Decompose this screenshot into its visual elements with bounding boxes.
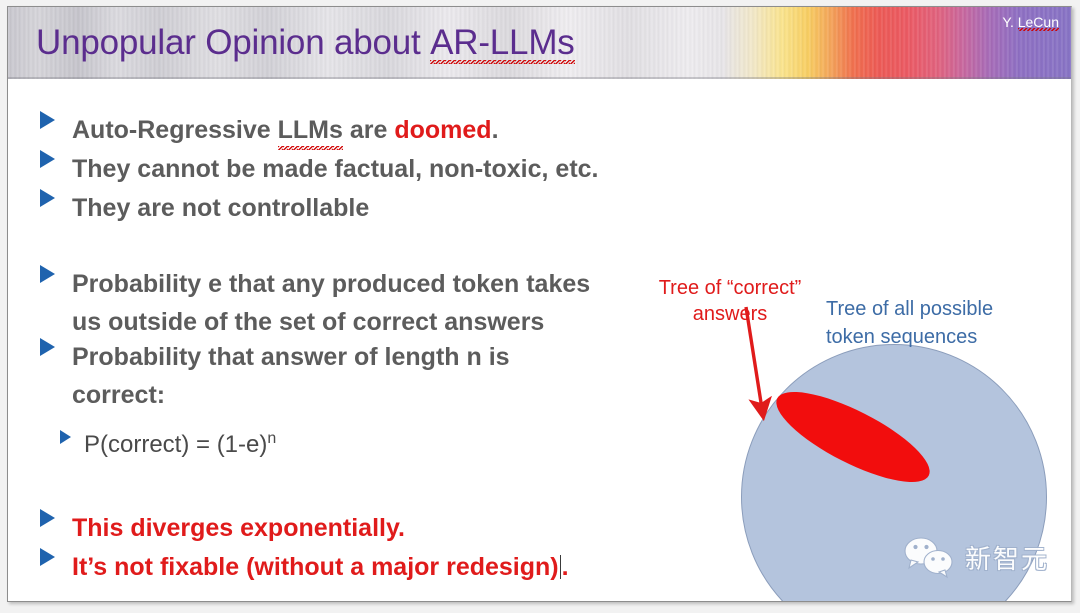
triangle-bullet-icon — [40, 548, 55, 566]
bullet-text: Probability that answer of length n is c… — [72, 338, 510, 414]
bullet-item: It’s not fixable (without a major redesi… — [40, 548, 569, 586]
formula-base: P(correct) = (1-e) — [84, 431, 267, 458]
bullet-text: This diverges exponentially. — [72, 509, 405, 547]
bullet-text: They are not controllable — [72, 189, 369, 227]
bullet-text-emphasis: doomed — [394, 116, 491, 144]
label-correct-answers: Tree of “correct” answers — [630, 275, 830, 327]
formula-exponent: n — [267, 430, 276, 447]
bullet-text: It’s not fixable (without a major redesi… — [72, 548, 569, 586]
bullet-item: They are not controllable — [40, 189, 369, 227]
bullet-text-after: . — [492, 116, 499, 144]
triangle-bullet-icon — [40, 111, 55, 129]
label-all-sequences: Tree of all possible token sequences — [826, 295, 1066, 351]
bullet-item: Probability e that any produced token ta… — [40, 265, 590, 341]
slide-header-band: Unpopular Opinion about AR-LLMs Y. LeCun — [8, 7, 1071, 79]
triangle-bullet-icon — [40, 150, 55, 168]
watermark-text: 新智元 — [965, 539, 1049, 576]
page-title: Unpopular Opinion about AR-LLMs — [36, 23, 575, 63]
slide-body: Auto-Regressive LLMs are doomed. They ca… — [8, 79, 1071, 601]
bullet-text-main: It’s not fixable (without a major redesi… — [72, 553, 559, 581]
author-prefix: Y. — [1002, 14, 1017, 30]
watermark: 新智元 — [900, 535, 1049, 579]
page-title-flagged-term: AR-LLMs — [430, 23, 574, 63]
bullet-text: Auto-Regressive LLMs are doomed. — [72, 111, 499, 149]
bullet-text-tail: . — [562, 553, 569, 581]
bullet-flagged-term: LLMs — [278, 111, 343, 149]
triangle-bullet-icon — [60, 430, 71, 444]
wechat-icon — [900, 535, 962, 579]
triangle-bullet-icon — [40, 189, 55, 207]
triangle-bullet-icon — [40, 265, 55, 283]
bullet-item: Auto-Regressive LLMs are doomed. — [40, 111, 499, 149]
bullet-text-middle: are — [343, 116, 394, 144]
author-credit: Y. LeCun — [1002, 14, 1059, 30]
bullet-item-formula: P(correct) = (1-e)n — [60, 423, 276, 461]
bullet-text: Probability e that any produced token ta… — [72, 265, 590, 341]
bullet-item: Probability that answer of length n is c… — [40, 338, 510, 414]
probability-formula: P(correct) = (1-e)n — [84, 423, 276, 461]
bullet-text: They cannot be made factual, non-toxic, … — [72, 150, 599, 188]
page-title-plain: Unpopular Opinion about — [36, 23, 430, 62]
slide-frame: Unpopular Opinion about AR-LLMs Y. LeCun… — [7, 6, 1072, 602]
author-flagged-term: LeCun — [1018, 14, 1059, 30]
bullet-item: This diverges exponentially. — [40, 509, 405, 547]
screenshot-root: Unpopular Opinion about AR-LLMs Y. LeCun… — [0, 0, 1080, 613]
bullet-text-before: Auto-Regressive — [72, 116, 278, 144]
bullet-item: They cannot be made factual, non-toxic, … — [40, 150, 599, 188]
triangle-bullet-icon — [40, 509, 55, 527]
triangle-bullet-icon — [40, 338, 55, 356]
text-cursor — [560, 555, 561, 579]
